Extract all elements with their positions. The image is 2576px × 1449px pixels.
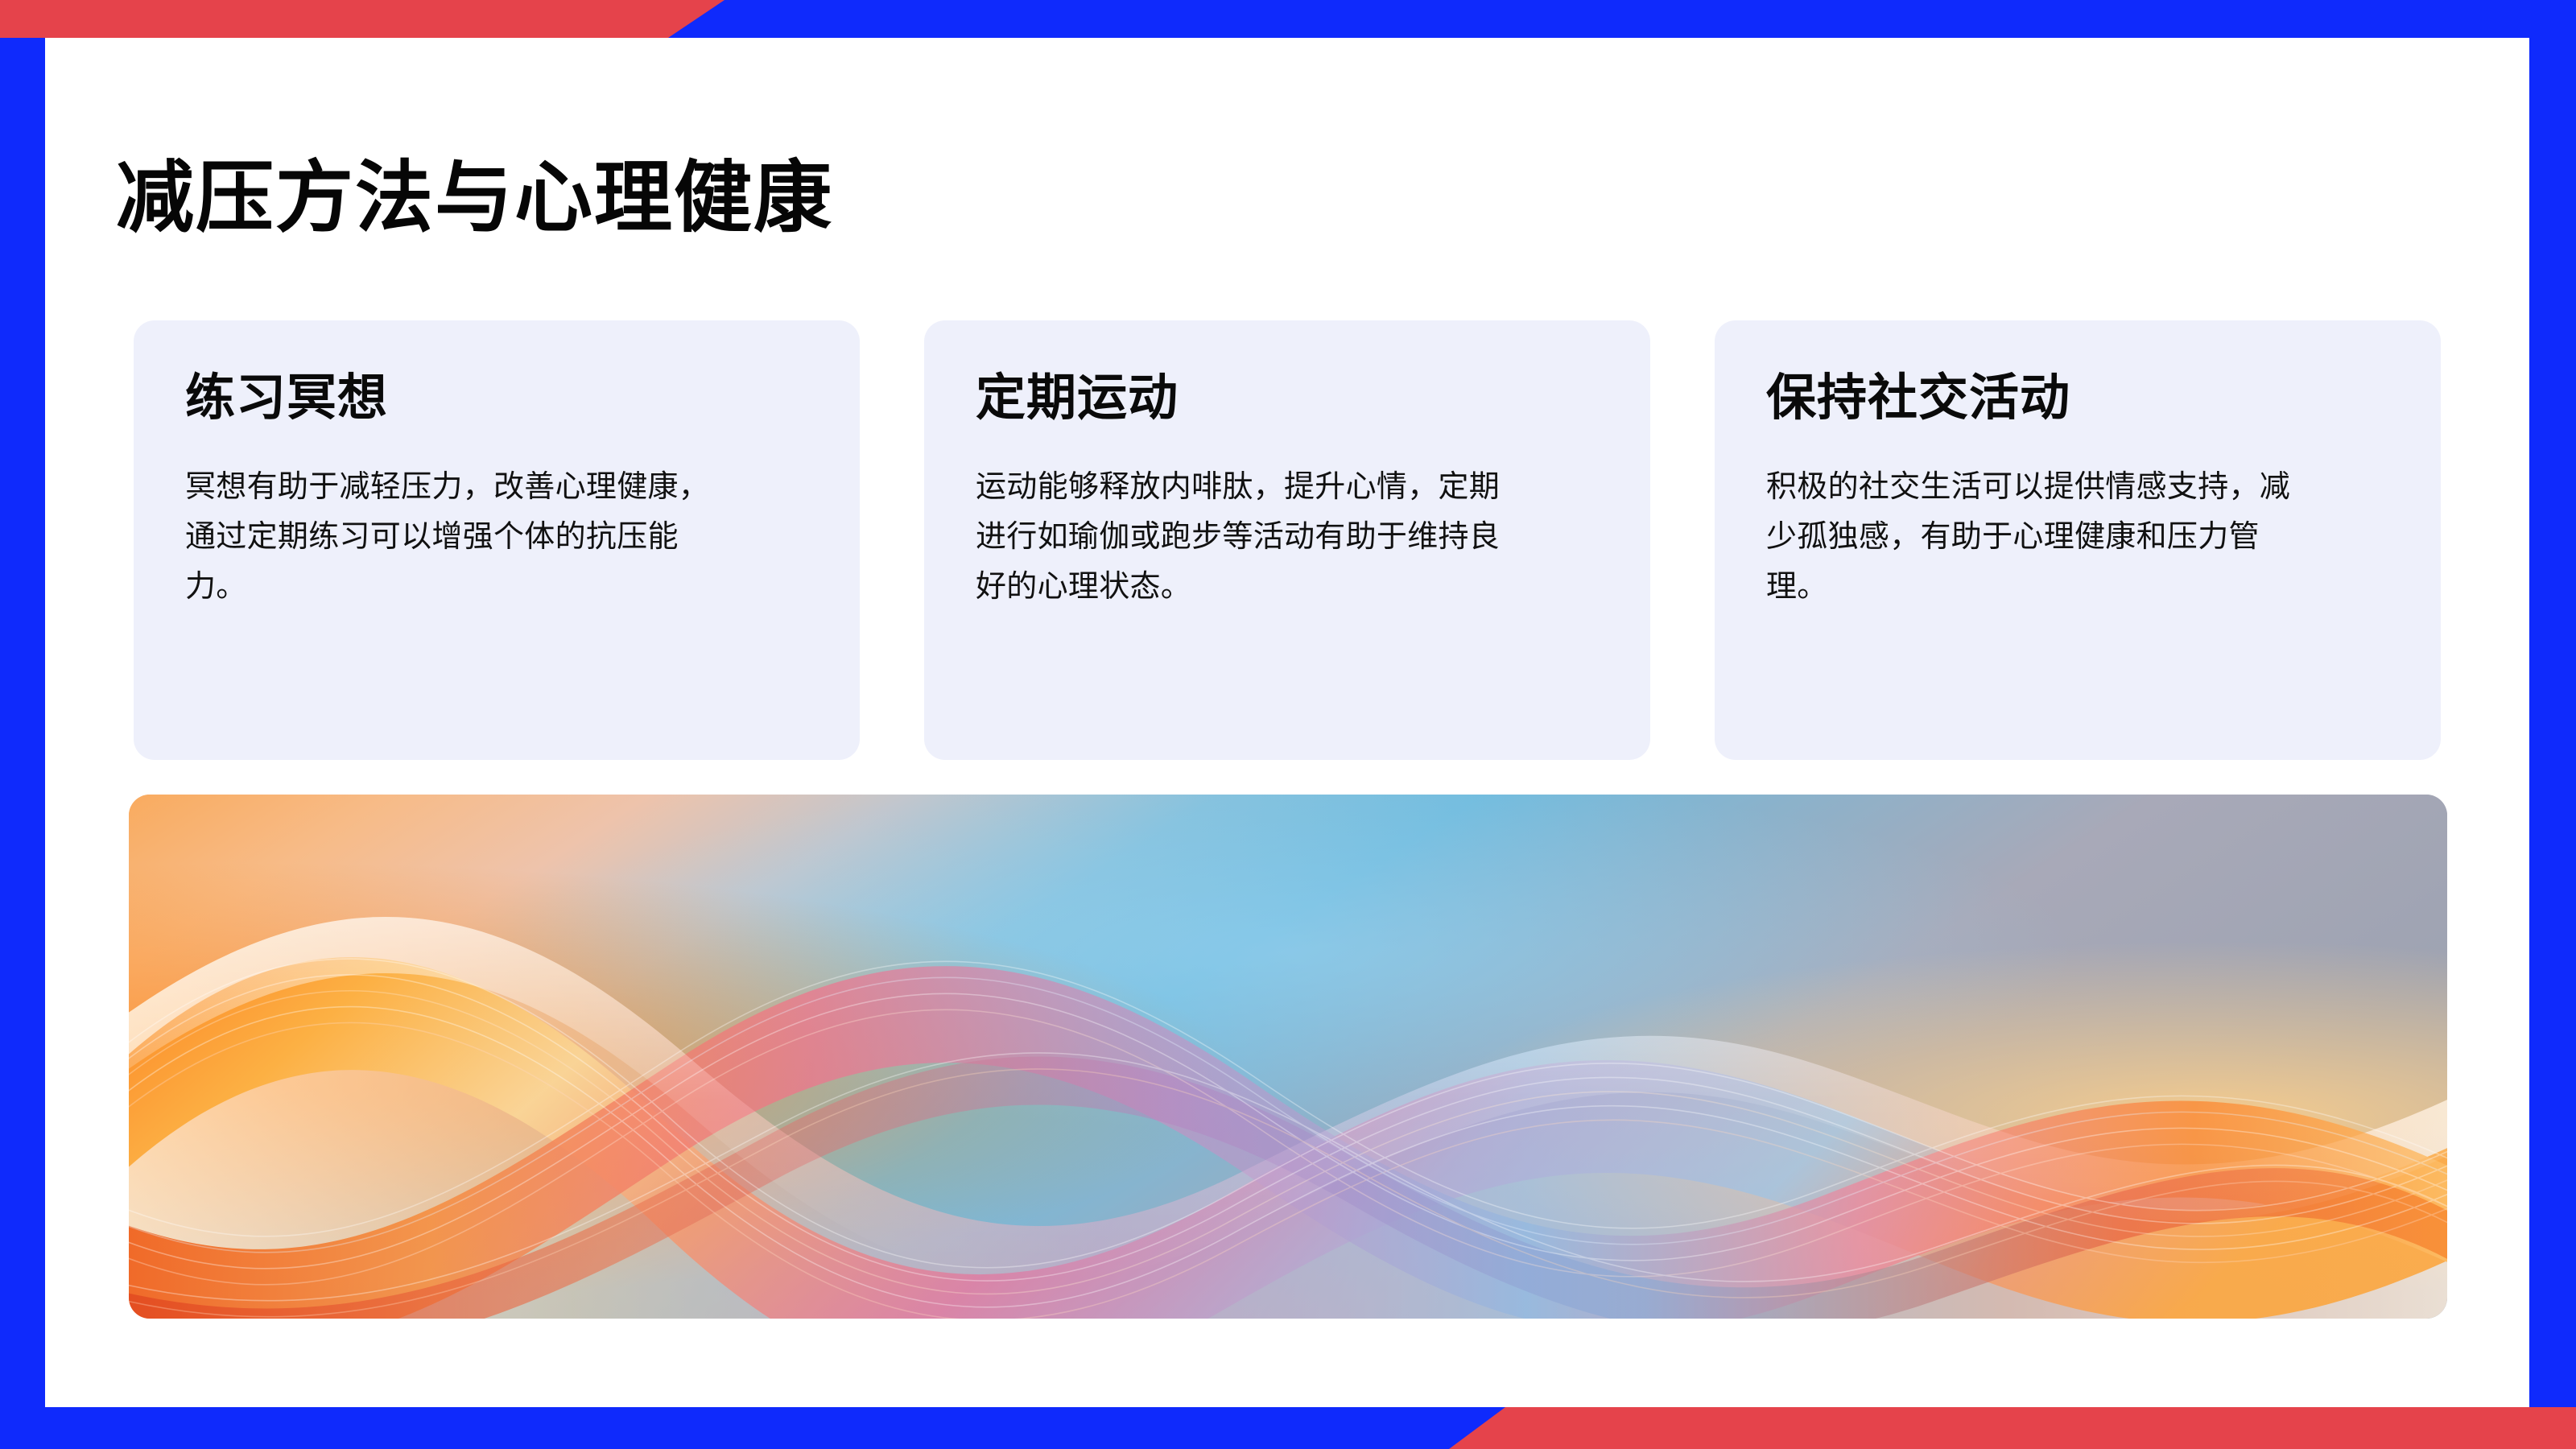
- card-exercise[interactable]: 定期运动 运动能够释放内啡肽，提升心情，定期进行如瑜伽或跑步等活动有助于维持良好…: [924, 320, 1650, 760]
- frame-red-wedge-top-left: [0, 0, 724, 38]
- card-body: 运动能够释放内啡肽，提升心情，定期进行如瑜伽或跑步等活动有助于维持良好的心理状态…: [976, 463, 1523, 612]
- card-title: 练习冥想: [185, 370, 808, 426]
- frame-red-wedge-bottom-right: [1449, 1407, 2576, 1449]
- hero-wave-image: [129, 795, 2447, 1319]
- card-title: 定期运动: [976, 370, 1599, 426]
- card-title: 保持社交活动: [1766, 370, 2389, 426]
- abstract-wave-graphic: [129, 795, 2447, 1319]
- slide-canvas: 减压方法与心理健康 练习冥想 冥想有助于减轻压力，改善心理健康，通过定期练习可以…: [45, 38, 2529, 1407]
- page-title: 减压方法与心理健康: [116, 153, 833, 243]
- slide: 减压方法与心理健康 练习冥想 冥想有助于减轻压力，改善心理健康，通过定期练习可以…: [0, 0, 2576, 1449]
- card-body: 冥想有助于减轻压力，改善心理健康，通过定期练习可以增强个体的抗压能力。: [185, 463, 733, 612]
- cards-row: 练习冥想 冥想有助于减轻压力，改善心理健康，通过定期练习可以增强个体的抗压能力。…: [134, 320, 2441, 760]
- card-meditation[interactable]: 练习冥想 冥想有助于减轻压力，改善心理健康，通过定期练习可以增强个体的抗压能力。: [134, 320, 860, 760]
- card-social[interactable]: 保持社交活动 积极的社交生活可以提供情感支持，减少孤独感，有助于心理健康和压力管…: [1715, 320, 2441, 760]
- card-body: 积极的社交生活可以提供情感支持，减少孤独感，有助于心理健康和压力管理。: [1766, 463, 2314, 612]
